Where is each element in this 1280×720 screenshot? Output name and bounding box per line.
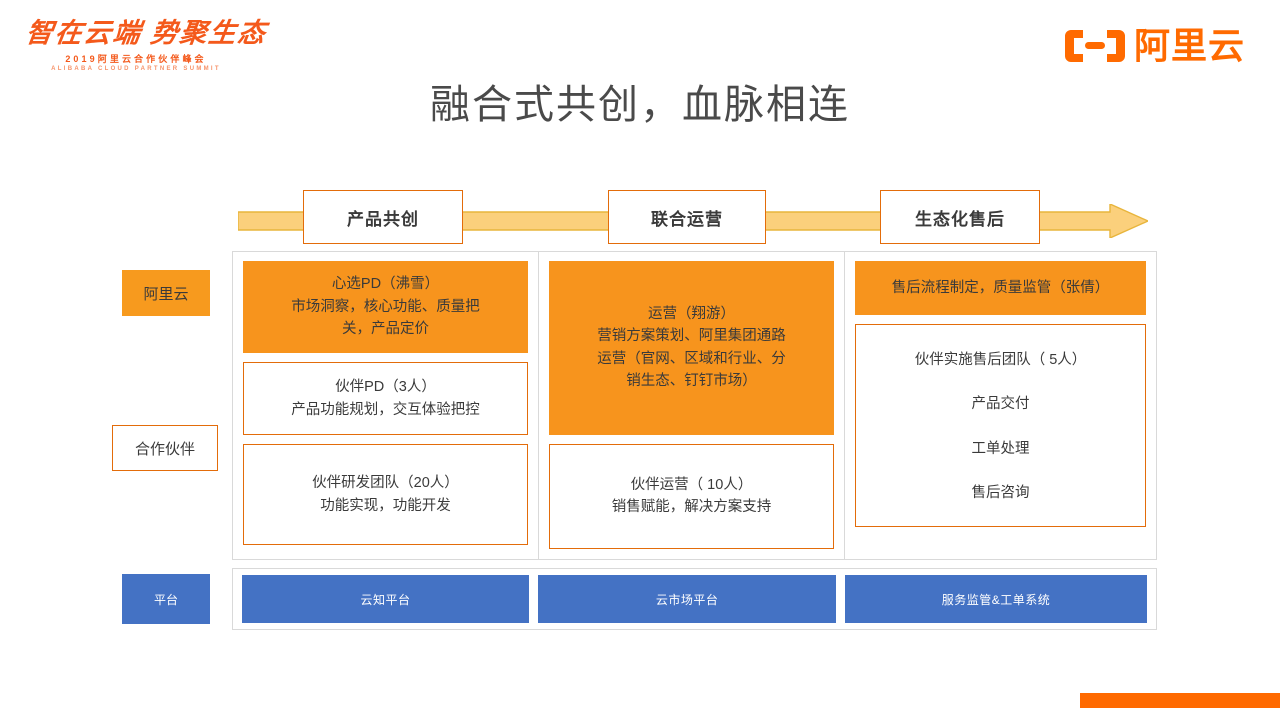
platform-label: 云市场平台 <box>656 591 719 608</box>
stage-box-2[interactable]: 联合运营 <box>608 190 766 244</box>
spacer <box>243 353 528 362</box>
platform-band: 云知平台 云市场平台 服务监管&工单系统 <box>232 568 1157 630</box>
card-partner-pd[interactable]: 伙伴PD（3人） 产品功能规划，交互体验把控 <box>243 362 528 435</box>
summit-calligraphy-text: 智在云端 势聚生态 <box>24 20 248 47</box>
card-line: 工单处理 <box>972 438 1030 460</box>
alibaba-cloud-brand: 阿里云 <box>1065 26 1245 66</box>
card-line: 产品交付 <box>972 393 1030 415</box>
card-line: 运营（翔游） <box>648 303 735 325</box>
card-alicloud-aftersales[interactable]: 售后流程制定，质量监管（张倩） <box>855 261 1146 315</box>
card-partner-aftersales-team[interactable]: 伙伴实施售后团队（ 5人） 产品交付 工单处理 售后咨询 <box>855 324 1146 527</box>
row-label-platform: 平台 <box>122 574 210 624</box>
matrix-column-ecosystem-aftersales: 售后流程制定，质量监管（张倩） 伙伴实施售后团队（ 5人） 产品交付 工单处理 … <box>845 252 1156 559</box>
page-title: 融合式共创，血脉相连 <box>0 72 1280 130</box>
platform-label: 云知平台 <box>361 591 411 608</box>
spacer <box>243 435 528 444</box>
matrix-column-joint-operation: 运营（翔游） 营销方案策划、阿里集团通路 运营（官网、区域和行业、分 销生态、钉… <box>539 252 845 559</box>
card-partner-operation[interactable]: 伙伴运营（ 10人） 销售赋能，解决方案支持 <box>549 444 834 549</box>
stage-box-1[interactable]: 产品共创 <box>303 190 463 244</box>
stage-label-1: 产品共创 <box>347 205 419 230</box>
stage-box-3[interactable]: 生态化售后 <box>880 190 1040 244</box>
card-line: 关，产品定价 <box>342 318 429 340</box>
card-line: 心选PD（沸雪） <box>332 273 439 295</box>
platform-label: 服务监管&工单系统 <box>942 591 1051 608</box>
card-line: 伙伴PD（3人） <box>335 376 436 398</box>
brand-name: 阿里云 <box>1134 28 1245 64</box>
card-line: 售后流程制定，质量监管（张倩） <box>892 277 1110 299</box>
card-line: 伙伴实施售后团队（ 5人） <box>915 349 1087 371</box>
summit-logo: 智在云端 势聚生态 2019阿里云合作伙伴峰会 ALIBABA CLOUD PA… <box>26 20 246 80</box>
card-alicloud-operation[interactable]: 运营（翔游） 营销方案策划、阿里集团通路 运营（官网、区域和行业、分 销生态、钉… <box>549 261 834 435</box>
card-line: 市场洞察，核心功能、质量把 <box>291 296 480 318</box>
stage-label-3: 生态化售后 <box>915 205 1005 230</box>
stage-label-2: 联合运营 <box>651 205 723 230</box>
card-alicloud-product[interactable]: 心选PD（沸雪） 市场洞察，核心功能、质量把 关，产品定价 <box>243 261 528 353</box>
stage-band: 产品共创 联合运营 生态化售后 <box>238 190 1148 250</box>
row-label-platform-text: 平台 <box>154 591 178 608</box>
alibaba-cloud-logo-icon <box>1065 26 1125 66</box>
card-line: 营销方案策划、阿里集团通路 <box>597 325 786 347</box>
card-partner-rd-team[interactable]: 伙伴研发团队（20人） 功能实现，功能开发 <box>243 444 528 545</box>
row-label-alicloud-text: 阿里云 <box>143 283 188 304</box>
card-line: 销生态、钉钉市场） <box>626 370 757 392</box>
platform-box-marketplace[interactable]: 云市场平台 <box>538 575 836 623</box>
card-line: 伙伴运营（ 10人） <box>631 474 753 496</box>
platform-box-service-ticket[interactable]: 服务监管&工单系统 <box>845 575 1147 623</box>
footer-accent-bar <box>1080 693 1280 708</box>
spacer <box>549 435 834 444</box>
card-line: 功能实现，功能开发 <box>320 495 451 517</box>
responsibility-matrix: 心选PD（沸雪） 市场洞察，核心功能、质量把 关，产品定价 伙伴PD（3人） 产… <box>232 251 1157 560</box>
matrix-column-product-cocreation: 心选PD（沸雪） 市场洞察，核心功能、质量把 关，产品定价 伙伴PD（3人） 产… <box>233 252 539 559</box>
card-line: 销售赋能，解决方案支持 <box>612 496 772 518</box>
card-line: 运营（官网、区域和行业、分 <box>597 348 786 370</box>
card-line: 售后咨询 <box>972 482 1030 504</box>
spacer <box>855 315 1146 324</box>
summit-subtitle-cn: 2019阿里云合作伙伴峰会 <box>26 52 246 65</box>
platform-box-yunzhi[interactable]: 云知平台 <box>242 575 529 623</box>
row-label-partner-text: 合作伙伴 <box>135 438 195 459</box>
card-line: 产品功能规划，交互体验把控 <box>291 399 480 421</box>
row-label-partner: 合作伙伴 <box>112 425 218 471</box>
row-label-alicloud: 阿里云 <box>122 270 210 316</box>
card-line: 伙伴研发团队（20人） <box>312 472 459 494</box>
